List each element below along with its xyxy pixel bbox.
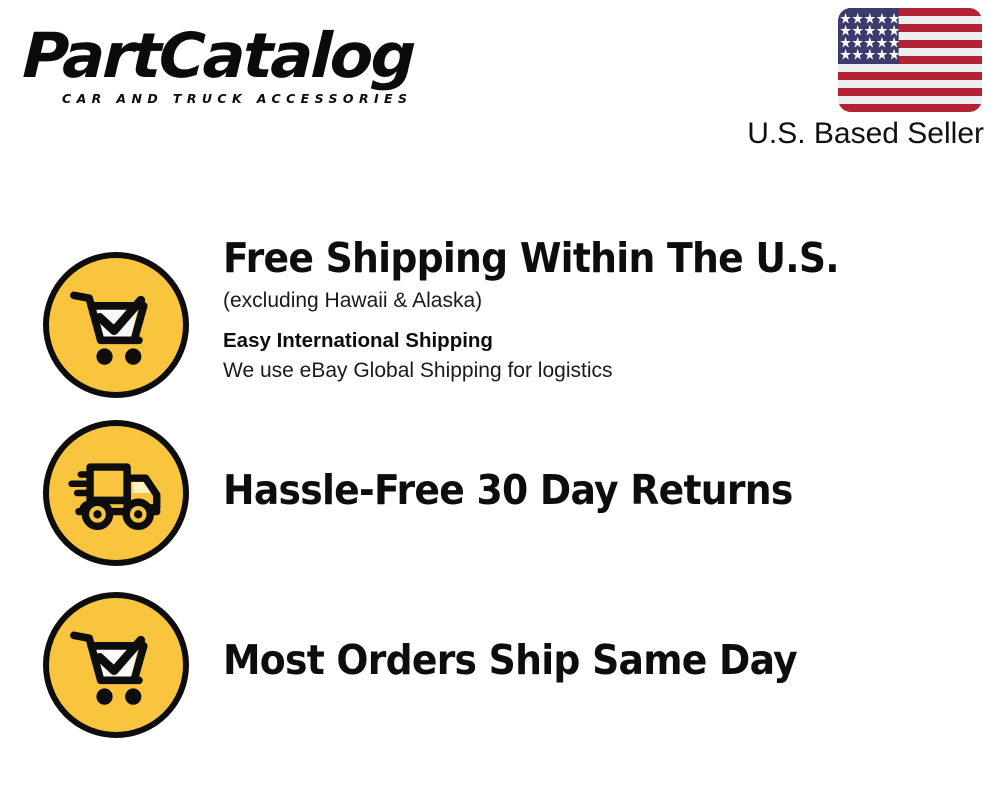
us-based-seller-label: U.S. Based Seller (716, 116, 986, 152)
brand-wordmark: PartCatalog (22, 22, 504, 90)
us-flag-icon (838, 8, 982, 112)
shopping-cart-check-icon (43, 252, 189, 398)
delivery-truck-icon (43, 420, 189, 566)
feature-text-block: Free Shipping Within The U.S. (excluding… (200, 228, 1000, 386)
feature-sub-regular: We use eBay Global Shipping for logistic… (223, 356, 1000, 386)
feature-icon-wrap (0, 228, 200, 398)
page-header: PartCatalog CAR AND TRUCK ACCESSORIES (0, 0, 1000, 180)
us-based-seller-badge: U.S. Based Seller (716, 8, 986, 152)
feature-row: Most Orders Ship Same Day (0, 570, 1000, 742)
feature-headline: Most Orders Ship Same Day (223, 636, 938, 684)
feature-text-block: Most Orders Ship Same Day (200, 570, 1000, 684)
brand-tagline: CAR AND TRUCK ACCESSORIES (62, 91, 494, 106)
feature-sub-strong: Easy International Shipping (223, 327, 1000, 355)
feature-headline: Hassle-Free 30 Day Returns (223, 466, 938, 514)
feature-row: Hassle-Free 30 Day Returns (0, 398, 1000, 570)
partcatalog-logo[interactable]: PartCatalog CAR AND TRUCK ACCESSORIES (24, 22, 494, 117)
feature-headline: Free Shipping Within The U.S. (223, 234, 938, 282)
feature-text-block: Hassle-Free 30 Day Returns (200, 398, 1000, 514)
feature-subline: (excluding Hawaii & Alaska) (223, 286, 1000, 316)
shopping-cart-check-icon (43, 592, 189, 738)
feature-icon-wrap (0, 398, 200, 566)
feature-row: Free Shipping Within The U.S. (excluding… (0, 228, 1000, 398)
feature-icon-wrap (0, 570, 200, 738)
